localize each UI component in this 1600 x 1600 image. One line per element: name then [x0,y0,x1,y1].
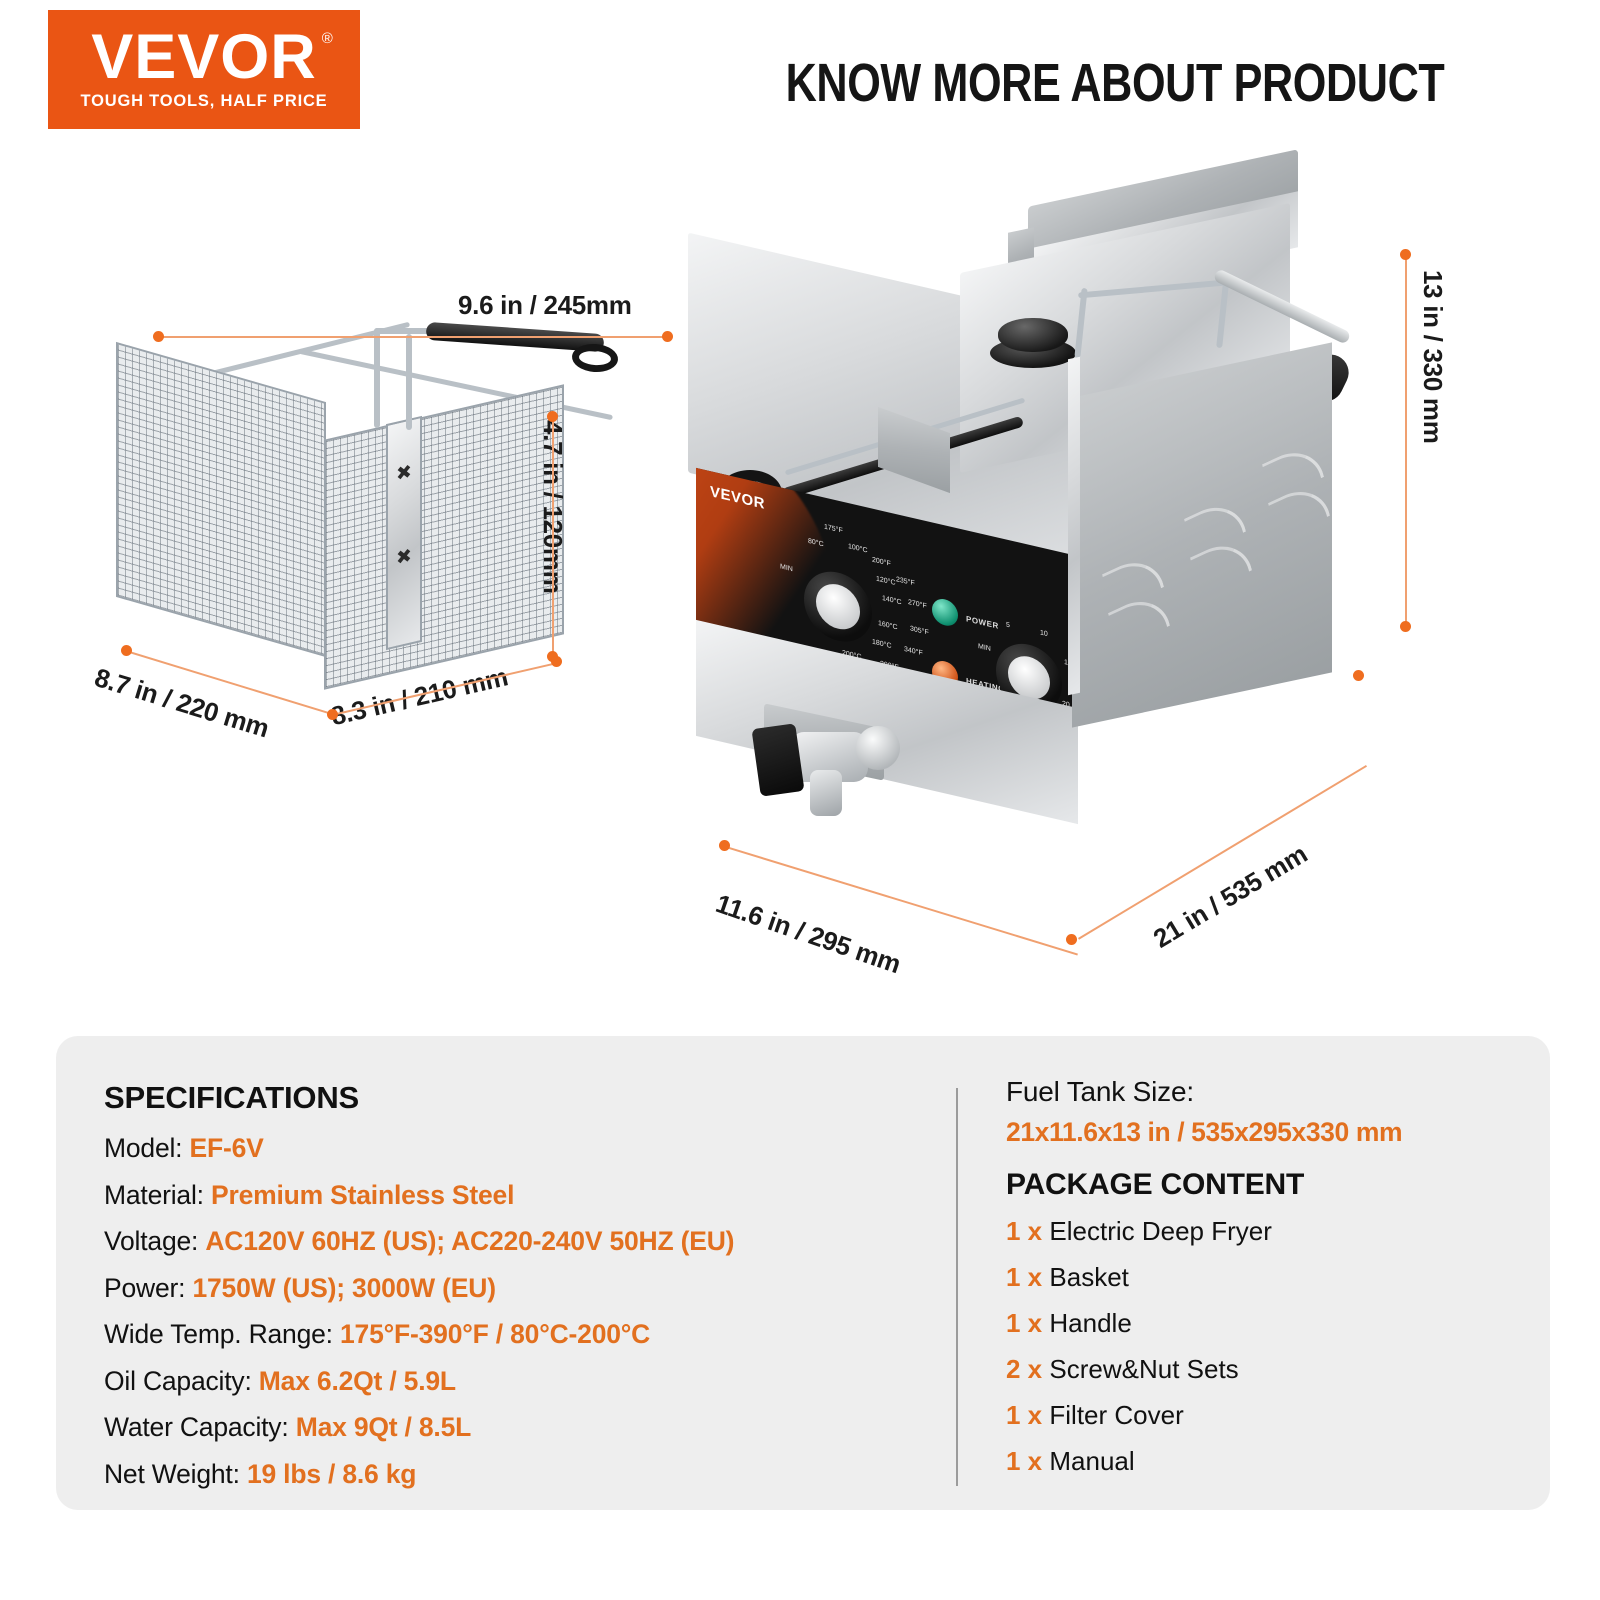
spec-value-model: EF-6V [190,1133,264,1163]
package-item-qty: 1 x [1006,1446,1042,1476]
temp-tick-235f: 235°F [896,576,915,587]
spec-label-net-weight: Net Weight: [104,1459,240,1489]
spec-label-water-capacity: Water Capacity: [104,1412,289,1442]
list-item: 1 x Filter Cover [1006,1400,1550,1431]
list-item: 1 x Electric Deep Fryer [1006,1216,1550,1247]
specifications-column: SPECIFICATIONS Model: EF-6V Material: Pr… [56,1036,956,1510]
dim-basket-handle-label: 9.6 in / 245mm [458,290,632,321]
registered-trademark-icon: ® [322,32,334,46]
spec-label-oil-capacity: Oil Capacity: [104,1366,252,1396]
temp-tick-100c: 100°C [848,543,868,555]
spec-row-voltage: Voltage: AC120V 60HZ (US); AC220-240V 50… [104,1226,956,1257]
dim-basket-depth-dot-start [121,645,132,656]
spec-row-oil-capacity: Oil Capacity: Max 6.2Qt / 5.9L [104,1366,956,1397]
package-item-qty: 1 x [1006,1216,1042,1246]
temp-tick-270f: 270°F [908,599,927,610]
basket-screw-icon-top: ✖ [396,460,412,487]
temp-tick-120c: 120°C [876,575,896,587]
spec-value-power: 1750W (US); 3000W (EU) [192,1273,495,1303]
list-item: 1 x Manual [1006,1446,1550,1477]
fuel-tank-size-label: Fuel Tank Size: [1006,1076,1550,1108]
fryer-lid-knob [998,318,1068,352]
dim-fryer-height-dot-bottom [1400,621,1411,632]
package-item-name: Basket [1049,1262,1129,1292]
drain-valve-spout [810,770,842,816]
page-title: KNOW MORE ABOUT PRODUCT [783,52,1447,114]
temp-tick-175f: 175°F [824,523,843,534]
dim-fryer-height-dot-top [1400,249,1411,260]
package-item-qty: 1 x [1006,1308,1042,1338]
temp-tick-180c: 180°C [872,639,892,651]
dim-fryer-height-label: 13 in / 330 mm [1417,270,1448,444]
spec-row-temp-range: Wide Temp. Range: 175°F-390°F / 80°C-200… [104,1319,956,1350]
dim-basket-width-dot-start [327,709,338,720]
spec-row-net-weight: Net Weight: 19 lbs / 8.6 kg [104,1459,956,1490]
package-item-qty: 2 x [1006,1354,1042,1384]
temp-tick-160c: 160°C [878,620,898,632]
basket-divider-plate [386,416,422,650]
temperature-knob-cap[interactable] [816,580,860,634]
package-column: Fuel Tank Size: 21x11.6x13 in / 535x295x… [958,1036,1550,1510]
drain-valve-cap [856,726,900,770]
timer-min-label: MIN [978,643,991,653]
spec-label-voltage: Voltage: [104,1226,198,1256]
package-item-name: Screw&Nut Sets [1049,1354,1238,1384]
dim-fryer-length-dot-end [1353,670,1364,681]
spec-value-net-weight: 19 lbs / 8.6 kg [247,1459,416,1489]
fryer-illustration: VEVOR 175°F 80°C 100°C 200°F 120°C 235°F… [660,170,1380,850]
dim-basket-handle-line [158,336,668,338]
spec-row-model: Model: EF-6V [104,1133,956,1164]
package-item-name: Handle [1049,1308,1131,1338]
package-item-name: Manual [1049,1446,1134,1476]
logo-brand-text: VEVOR [91,22,317,92]
spec-row-power: Power: 1750W (US); 3000W (EU) [104,1273,956,1304]
list-item: 2 x Screw&Nut Sets [1006,1354,1550,1385]
power-indicator-led [932,596,958,628]
spec-label-power: Power: [104,1273,185,1303]
spec-label-temp-range: Wide Temp. Range: [104,1319,333,1349]
vevor-logo: VEVOR ® TOUGH TOOLS, HALF PRICE [48,10,360,129]
fryer-side-panel [1072,342,1332,727]
basket-screw-icon-bottom: ✖ [396,544,412,571]
product-spec-page: VEVOR ® TOUGH TOOLS, HALF PRICE KNOW MOR… [0,0,1600,1600]
product-info-panel: SPECIFICATIONS Model: EF-6V Material: Pr… [56,1036,1550,1510]
basket-illustration: ✖ ✖ 9.6 in / 245mm 4.7 in / 120mm 8.7 in… [96,320,596,680]
drain-valve-lever[interactable] [751,723,804,796]
dim-basket-height-dot-top [547,411,558,422]
basket-bail-left [374,328,380,428]
spec-value-material: Premium Stainless Steel [211,1180,514,1210]
dim-basket-width-dot-end [551,656,562,667]
dim-basket-handle-dot-start [153,331,164,342]
spec-label-model: Model: [104,1133,182,1163]
spec-value-water-capacity: Max 9Qt / 8.5L [296,1412,471,1442]
list-item: 1 x Handle [1006,1308,1550,1339]
fuel-tank-size-value: 21x11.6x13 in / 535x295x330 mm [1006,1117,1550,1148]
package-item-name: Electric Deep Fryer [1049,1216,1272,1246]
spec-value-oil-capacity: Max 6.2Qt / 5.9L [259,1366,456,1396]
specifications-heading: SPECIFICATIONS [104,1080,956,1116]
temp-tick-200f: 200°F [872,557,891,568]
basket-handle-loop [571,342,619,373]
spec-row-water-capacity: Water Capacity: Max 9Qt / 8.5L [104,1412,956,1443]
basket-bail-right [406,334,412,430]
dim-basket-depth-label: 8.7 in / 220 mm [91,662,273,744]
package-content-heading: PACKAGE CONTENT [1006,1168,1550,1202]
fryer-side-edge [1068,357,1080,696]
spec-row-material: Material: Premium Stainless Steel [104,1180,956,1211]
dim-fryer-depth-label: 11.6 in / 295 mm [712,888,905,980]
temp-tick-340f: 340°F [904,646,923,657]
dim-fryer-height-line [1405,254,1407,626]
dim-fryer-length-label: 21 in / 535 mm [1148,839,1313,955]
spec-value-temp-range: 175°F-390°F / 80°C-200°C [340,1319,650,1349]
list-item: 1 x Basket [1006,1262,1550,1293]
temp-tick-140c: 140°C [882,595,902,607]
dim-fryer-depth-dot-end [1066,934,1077,945]
spec-label-material: Material: [104,1180,204,1210]
logo-wordmark: VEVOR ® [91,28,317,88]
temp-tick-305f: 305°F [910,625,929,636]
power-indicator-label: POWER [966,614,999,631]
basket-mesh-right-face [324,384,564,689]
logo-tagline: TOUGH TOOLS, HALF PRICE [81,92,328,111]
spec-value-voltage: AC120V 60HZ (US); AC220-240V 50HZ (EU) [205,1226,734,1256]
package-item-qty: 1 x [1006,1400,1042,1430]
package-item-qty: 1 x [1006,1262,1042,1292]
package-item-name: Filter Cover [1049,1400,1183,1430]
dim-fryer-depth-dot-start [719,840,730,851]
basket-mesh-left-face [116,342,326,657]
timer-tick-5: 5 [1006,621,1010,629]
dim-basket-height-line [552,416,554,656]
timer-tick-10: 10 [1040,629,1048,638]
